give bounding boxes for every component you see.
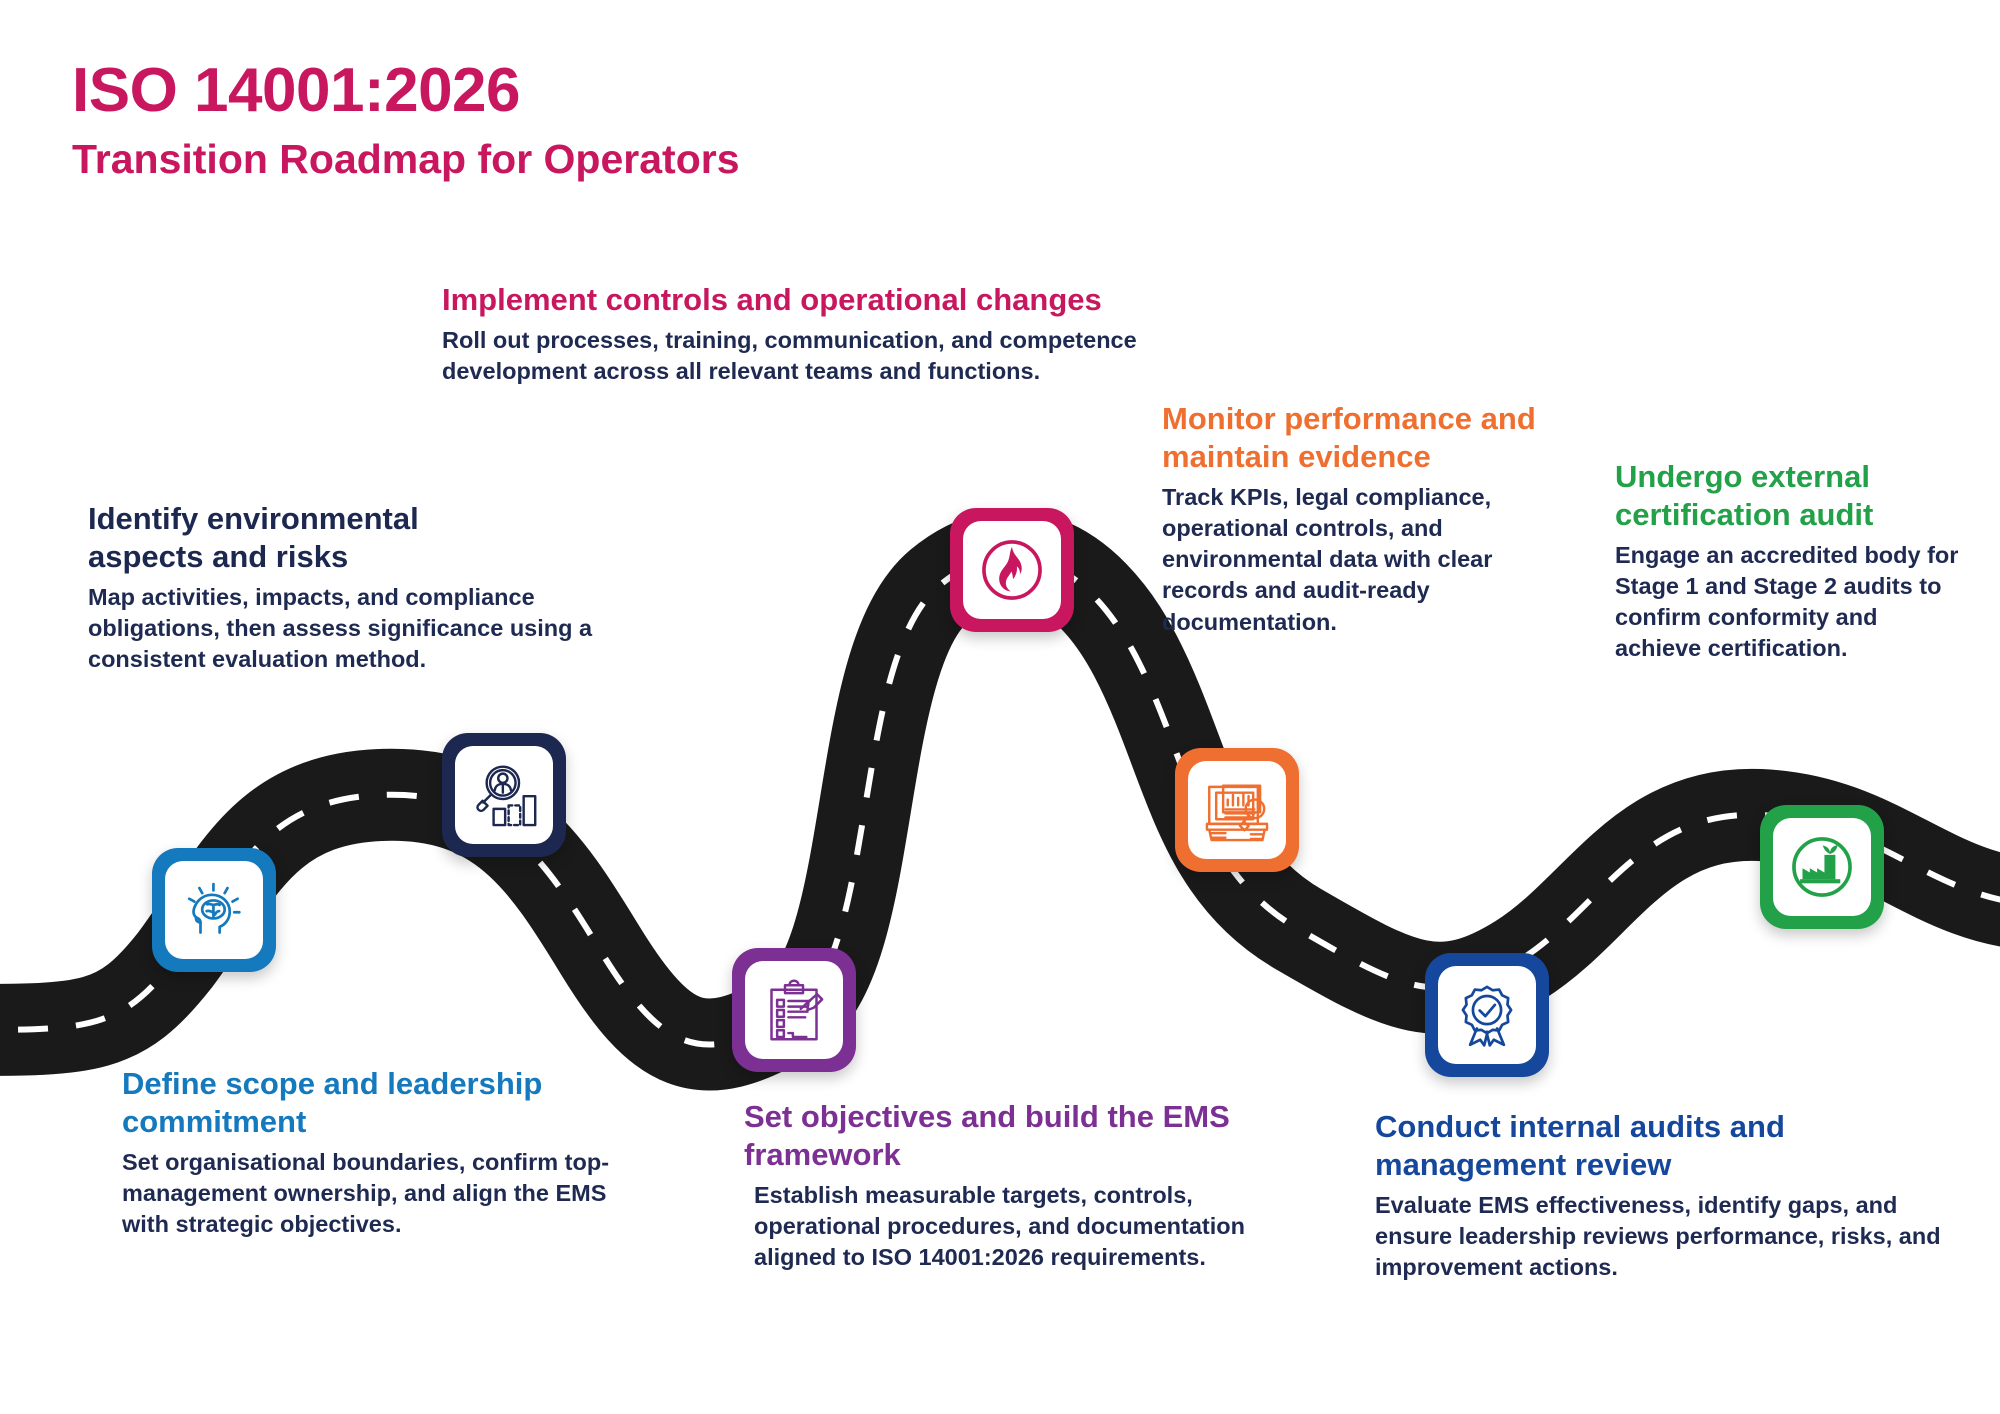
step-2-text: Identify environmental aspects and risks… xyxy=(88,500,648,675)
step-5-badge-inner xyxy=(1188,761,1286,859)
flame-circle-icon xyxy=(973,531,1051,609)
step-6-badge-inner xyxy=(1438,966,1536,1064)
step-2-heading: Identify environmental aspects and risks xyxy=(88,500,518,576)
step-4-heading: Implement controls and operational chang… xyxy=(442,281,1262,319)
step-5-badge[interactable] xyxy=(1175,748,1299,872)
step-5-body: Track KPIs, legal compliance, operationa… xyxy=(1162,482,1552,638)
step-1-heading: Define scope and leadership commitment xyxy=(122,1065,572,1141)
step-4-text: Implement controls and operational chang… xyxy=(442,281,1262,387)
step-6-body: Evaluate EMS effectiveness, identify gap… xyxy=(1375,1190,1975,1284)
step-6-badge[interactable] xyxy=(1425,953,1549,1077)
step-3-text: Set objectives and build the EMS framewo… xyxy=(744,1098,1324,1273)
step-5-text: Monitor performance and maintain evidenc… xyxy=(1162,400,1572,638)
step-3-heading: Set objectives and build the EMS framewo… xyxy=(744,1098,1264,1174)
step-2-badge-inner xyxy=(455,746,553,844)
step-4-badge[interactable] xyxy=(950,508,1074,632)
step-5-heading: Monitor performance and maintain evidenc… xyxy=(1162,400,1572,476)
clipboard-checklist-pencil-icon xyxy=(758,974,830,1046)
step-2-body: Map activities, impacts, and compliance … xyxy=(88,582,633,676)
factory-leaf-circle-icon xyxy=(1783,828,1861,906)
award-ribbon-check-icon xyxy=(1451,979,1523,1051)
monitor-report-magnifier-icon xyxy=(1200,773,1274,847)
step-6-heading: Conduct internal audits and management r… xyxy=(1375,1108,1845,1184)
step-7-badge[interactable] xyxy=(1760,805,1884,929)
step-1-text: Define scope and leadership commitment S… xyxy=(122,1065,652,1240)
header: ISO 14001:2026 Transition Roadmap for Op… xyxy=(72,58,740,182)
step-3-badge-inner xyxy=(745,961,843,1059)
step-6-text: Conduct internal audits and management r… xyxy=(1375,1108,1985,1283)
step-1-badge[interactable] xyxy=(152,848,276,972)
step-7-heading: Undergo external certification audit xyxy=(1615,458,1975,534)
step-4-body: Roll out processes, training, communicat… xyxy=(442,325,1142,388)
step-7-body: Engage an accredited body for Stage 1 an… xyxy=(1615,540,1960,665)
magnifier-person-barchart-icon xyxy=(467,758,541,832)
step-7-badge-inner xyxy=(1773,818,1871,916)
step-3-body: Establish measurable targets, controls, … xyxy=(754,1180,1319,1274)
page-subtitle: Transition Roadmap for Operators xyxy=(72,137,740,182)
infographic-canvas: ISO 14001:2026 Transition Roadmap for Op… xyxy=(0,0,2000,1414)
page-title: ISO 14001:2026 xyxy=(72,58,740,123)
step-2-badge[interactable] xyxy=(442,733,566,857)
step-1-badge-inner xyxy=(165,861,263,959)
step-4-badge-inner xyxy=(963,521,1061,619)
step-1-body: Set organisational boundaries, confirm t… xyxy=(122,1147,627,1241)
step-7-text: Undergo external certification audit Eng… xyxy=(1615,458,1975,665)
head-lightbulb-brain-icon xyxy=(178,874,250,946)
step-3-badge[interactable] xyxy=(732,948,856,1072)
